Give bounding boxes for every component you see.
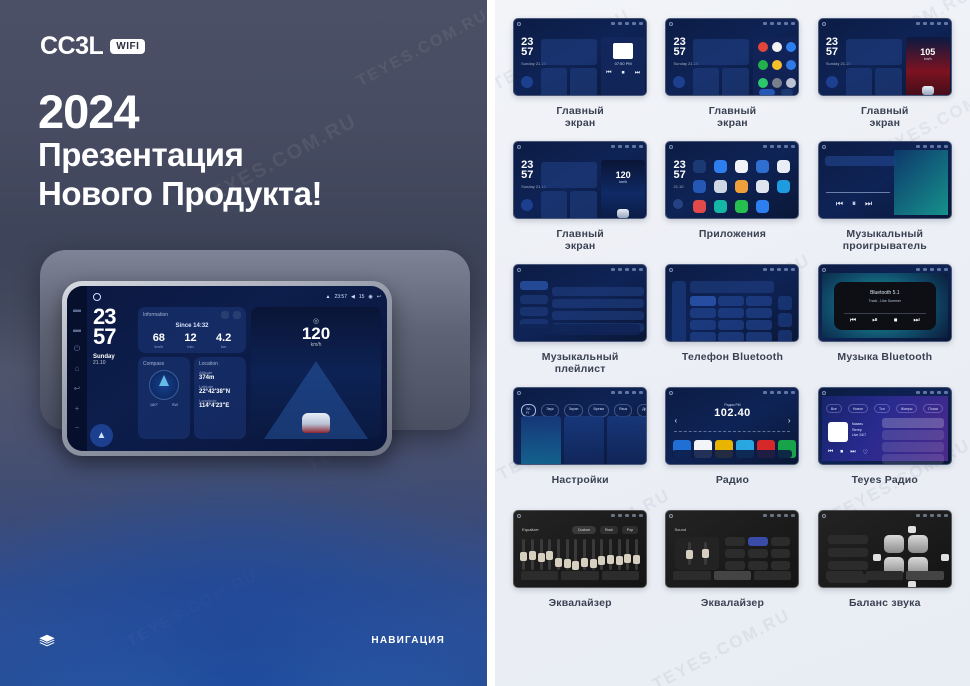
screen-thumbnail[interactable]: 2357Sunday 21.10 120 km/h [513, 141, 647, 219]
thumb-information-card [541, 39, 597, 65]
thumb-content: Sound [669, 519, 795, 584]
eq-preset-tile[interactable] [771, 561, 791, 570]
thumb-drive-view[interactable]: 105 km/h [906, 37, 950, 96]
bt-progress[interactable] [844, 313, 926, 314]
eq-band-slider[interactable] [548, 539, 551, 570]
compass-needle-icon [159, 375, 169, 386]
head-unit-side-rail[interactable]: ▬ ▬ ⏻ ⌂ ↩ + − [67, 286, 87, 451]
station-row[interactable] [882, 430, 944, 440]
track-row[interactable] [552, 299, 644, 308]
eq-tab [561, 571, 598, 580]
thumb-location-card [570, 68, 597, 96]
screen-thumbnail[interactable]: ВсеНовоеТопЖанрыПоиск КазаньПитерLive 24… [818, 387, 952, 465]
app-icon[interactable] [777, 160, 790, 173]
screen-thumbnail[interactable]: Equalizer Custom Rock Pop [513, 510, 647, 588]
back-icon [791, 145, 795, 148]
eq-band-slider[interactable] [626, 539, 629, 570]
wifi-icon [916, 391, 920, 394]
thumb-content: 2357Sunday 21.10 07:50 PM ⏮⏹⏭ [517, 27, 643, 92]
eq-band-slider[interactable] [540, 539, 543, 570]
metric-speed-unit: km/h [153, 344, 165, 349]
gallery-cell: 2357Sunday 21.10 Главныйэкран [659, 18, 805, 141]
status-icons [763, 268, 795, 271]
phone-sidebar[interactable] [672, 281, 686, 342]
eq-preset-tile[interactable] [725, 549, 745, 558]
eq-band-slider[interactable] [557, 539, 560, 570]
car-3d-model [302, 413, 330, 433]
eq-band-slider[interactable] [531, 539, 534, 570]
rail-volume-up-icon[interactable]: + [73, 404, 82, 413]
rail-back-icon[interactable]: ↩ [73, 384, 82, 393]
back-icon [639, 145, 643, 148]
information-card[interactable]: Information Since 14:32 68 [138, 307, 246, 353]
headline-line-2: Нового Продукта! [38, 175, 322, 214]
thumb-status-bar [822, 267, 948, 272]
eq-presets[interactable]: Custom Rock Pop [572, 526, 638, 534]
speaker-icon [908, 535, 928, 553]
clock-minutes: 57 [93, 327, 133, 347]
eq-band-slider[interactable] [566, 539, 569, 570]
teyes-tab[interactable]: Поиск [923, 404, 943, 413]
eq-band-slider[interactable] [618, 539, 621, 570]
eq-preset-tile[interactable] [725, 561, 745, 570]
media-controls[interactable]: ⏮⏹⏭ [601, 70, 645, 77]
screen-thumbnail[interactable]: 2357Sunday 21.10 07:50 PM ⏮⏹⏭ [513, 18, 647, 96]
eq-tabs[interactable] [521, 571, 639, 580]
clock-icon [923, 22, 927, 25]
screen-thumbnail[interactable]: 235721.10 [665, 141, 799, 219]
eq-fader[interactable] [704, 542, 707, 565]
app-icon[interactable] [714, 200, 727, 213]
teyes-tab[interactable]: Топ [874, 404, 890, 413]
eq-tabs[interactable] [826, 571, 944, 580]
thumb-nav-button[interactable] [521, 76, 533, 88]
settings-tile[interactable] [607, 416, 647, 465]
home-icon[interactable] [822, 22, 826, 26]
thumb-content [669, 273, 795, 338]
eq-band-slider[interactable] [609, 539, 612, 570]
app-icon[interactable] [758, 78, 768, 88]
back-icon [639, 514, 643, 517]
screen-thumbnail[interactable] [665, 264, 799, 342]
status-icons [916, 268, 948, 271]
screen-thumbnail[interactable]: Bluetooth 5.1 Track - Like Summer ⏮⏯⏹⏭ [818, 264, 952, 342]
eq-band-slider[interactable] [592, 539, 595, 570]
stop-icon: ⏹ [840, 449, 843, 456]
thumb-nav-button[interactable] [673, 76, 685, 88]
screen-thumbnail[interactable]: Радио FM 102.40 ‹ › [665, 387, 799, 465]
dial-key[interactable] [690, 332, 716, 342]
volume-icon [625, 514, 629, 517]
app-icon[interactable] [777, 180, 790, 193]
thumb-content [517, 273, 643, 338]
dial-key[interactable] [746, 332, 772, 342]
playlist-tab[interactable] [520, 281, 548, 290]
teyes-tab[interactable]: Новое [848, 404, 868, 413]
metric-distance-unit: km [216, 344, 231, 349]
location-card[interactable]: Location Altitude 374m Latitude 22°42'38… [194, 357, 246, 439]
home-icon[interactable] [669, 145, 673, 149]
track-row[interactable] [552, 287, 644, 296]
navigation-button[interactable]: ▲ [90, 424, 113, 447]
wifi-icon [916, 145, 920, 148]
eq-preset-button: Pop [622, 526, 638, 534]
home-indicator-icon[interactable] [93, 293, 101, 301]
home-icon[interactable] [517, 268, 521, 272]
app-icon[interactable] [693, 180, 706, 193]
settings-icon [937, 268, 941, 271]
screen-caption: Музыкальныйплейлист [542, 351, 619, 376]
eq-band-slider[interactable] [574, 539, 577, 570]
wifi-badge: WIFI [110, 39, 145, 54]
screen-caption: Музыка Bluetooth [837, 351, 932, 376]
app-icon[interactable] [772, 60, 782, 70]
compass-direction: SW [172, 402, 178, 407]
screen-caption: Музыкальныйпроигрыватель [843, 228, 927, 253]
balance-up-button[interactable] [908, 526, 916, 533]
wifi-icon [763, 145, 767, 148]
eq-band-sliders[interactable] [522, 539, 638, 570]
volume-icon: ◀ [351, 294, 355, 300]
rail-menu-icon[interactable]: ▬ [73, 325, 82, 334]
tuning-scale[interactable] [674, 431, 790, 436]
settings-tile[interactable] [564, 416, 604, 465]
teyes-tab[interactable]: Все [826, 404, 842, 413]
eq-preset-tile[interactable] [771, 537, 791, 546]
thumb-nav-button[interactable] [826, 76, 838, 88]
eq-tab-active [714, 571, 751, 580]
eq-band-slider[interactable] [522, 539, 525, 570]
screen-thumbnail[interactable]: Wi-FiЗвукЭкранВремяЯзыкДругое [513, 387, 647, 465]
station-row[interactable] [882, 418, 944, 428]
next-icon: ⏭ [635, 70, 640, 77]
rail-home-icon[interactable]: ⌂ [73, 364, 82, 373]
app-icon[interactable] [714, 160, 727, 173]
head-unit-body: ▲ 23:57 ◀ 15 ◉ ↩ 23 57 Sunday [87, 286, 387, 451]
clock-widget: 23 57 Sunday 21.10 ▲ [93, 307, 133, 439]
information-metrics: 68 km/h 12 min 4.2 km [143, 332, 241, 349]
head-unit-bezel: ▬ ▬ ⏻ ⌂ ↩ + − ▲ 23:57 ◀ 15 [62, 281, 392, 456]
eq-preset-tile[interactable] [748, 537, 768, 546]
screen-caption: Эквалайзер [549, 597, 612, 622]
hero-headline: 2024 Презентация Нового Продукта! [38, 88, 322, 214]
thumb-information-card [541, 162, 597, 188]
back-icon [791, 268, 795, 271]
dock-button[interactable] [759, 89, 775, 96]
home-icon[interactable] [669, 514, 673, 518]
screen-thumbnail[interactable]: ⏮⏸⏭ [818, 141, 952, 219]
now-playing-bar[interactable] [520, 324, 640, 335]
thumb-status-bar [669, 144, 795, 149]
balance-right-button[interactable] [941, 554, 949, 561]
thumb-compass-card [541, 68, 567, 96]
thumb-status-bar [517, 390, 643, 395]
back-icon [791, 22, 795, 25]
status-icons [916, 22, 948, 25]
call-action[interactable] [778, 296, 792, 310]
wifi-icon [611, 391, 615, 394]
track-title [825, 156, 897, 166]
wifi-icon [763, 514, 767, 517]
information-card-actions[interactable] [221, 311, 241, 319]
thumb-content: ⏮⏸⏭ [822, 150, 948, 215]
eq-preset-grid[interactable] [725, 537, 790, 570]
eq-preset-tile[interactable] [725, 537, 745, 546]
screen-caption: Настройки [552, 474, 609, 499]
compass-card[interactable]: Compass 180° SW [138, 357, 190, 439]
station-row[interactable] [882, 454, 944, 464]
teyes-tabs[interactable]: ВсеНовоеТопЖанрыПоиск [826, 404, 943, 413]
dock-button-2[interactable] [781, 89, 793, 96]
app-icon[interactable] [693, 160, 706, 173]
expand-icon[interactable] [233, 311, 241, 319]
track-row[interactable] [552, 311, 644, 320]
thumb-status-bar [822, 513, 948, 518]
thumb-drive-view[interactable]: 120 km/h [601, 160, 645, 219]
settings-icon [937, 391, 941, 394]
clock-icon [618, 268, 622, 271]
back-icon [944, 514, 948, 517]
thumb-app-shortcuts[interactable] [753, 37, 797, 96]
thumb-location-card [875, 68, 902, 96]
home-icon[interactable] [517, 22, 521, 26]
volume-level: 15 [359, 294, 365, 300]
home-icon[interactable] [822, 268, 826, 272]
eq-preset-button: Custom [572, 526, 596, 534]
head-unit-screen[interactable]: ▬ ▬ ⏻ ⌂ ↩ + − ▲ 23:57 ◀ 15 [67, 286, 387, 451]
thumb-status-bar [669, 267, 795, 272]
settings-icon[interactable]: ◉ [368, 294, 372, 300]
teyes-controls[interactable]: ⏮⏹⏭♡ [828, 449, 868, 456]
clock-icon [618, 145, 622, 148]
screen-caption: Баланс звука [849, 597, 921, 622]
prev-icon: ⏮ [606, 70, 611, 77]
app-icon[interactable] [758, 42, 768, 52]
settings-icon [632, 391, 636, 394]
home-icon[interactable] [822, 391, 826, 395]
settings-tile[interactable] [521, 416, 561, 465]
panel-divider [487, 0, 495, 686]
speed-unit: km/h [251, 342, 381, 348]
app-icon[interactable] [772, 42, 782, 52]
thumb-status-bar [517, 21, 643, 26]
thumb-content: 2357Sunday 21.10 105 km/h [822, 27, 948, 92]
category-row[interactable] [520, 307, 548, 316]
balance-preset[interactable] [828, 561, 868, 570]
thumb-location-card [570, 191, 597, 219]
home-icon[interactable] [669, 268, 673, 272]
hero-panel: TEYES.COM.RU TEYES.COM.RU TEYES.COM.RU T… [0, 0, 487, 686]
volume-icon [777, 391, 781, 394]
volume-icon [777, 268, 781, 271]
balance-down-button[interactable] [908, 581, 916, 588]
app-icon[interactable] [756, 180, 769, 193]
metric-distance-value: 4.2 [216, 332, 231, 344]
dial-key[interactable] [746, 320, 772, 330]
call-action[interactable] [778, 330, 792, 342]
screen-caption: Главныйэкран [556, 228, 604, 253]
rail-volume-down-icon[interactable]: − [73, 423, 82, 432]
app-icon[interactable] [786, 78, 796, 88]
metric-speed-value: 68 [153, 332, 165, 344]
album-art [828, 422, 848, 442]
stop-icon: ⏹ [894, 317, 898, 325]
watermark: TEYES.COM.RU [354, 7, 487, 91]
app-icon[interactable] [714, 180, 727, 193]
status-clock: 23:57 [334, 294, 347, 300]
status-icons [763, 145, 795, 148]
dial-key[interactable] [718, 332, 744, 342]
product-logo: CC3L WIFI [40, 32, 145, 61]
eq-tab [602, 571, 639, 580]
screen-thumbnail[interactable]: 2357Sunday 21.10 [665, 18, 799, 96]
screen-thumbnail[interactable]: Sound [665, 510, 799, 588]
gallery-cell: 2357Sunday 21.10 07:50 PM ⏮⏹⏭ Главныйэкр… [507, 18, 653, 141]
app-icon[interactable] [786, 60, 796, 70]
prev-icon: ⏮ [836, 199, 843, 209]
station-row[interactable] [882, 442, 944, 452]
settings-icon [632, 268, 636, 271]
dial-key[interactable] [690, 320, 716, 330]
status-bar-right: ▲ 23:57 ◀ 15 ◉ ↩ [326, 294, 381, 300]
dial-key[interactable] [718, 320, 744, 330]
home-icon[interactable] [517, 514, 521, 518]
eq-dual-faders[interactable] [675, 537, 719, 570]
thumb-media-widget[interactable]: 07:50 PM ⏮⏹⏭ [601, 37, 645, 96]
album-art [613, 43, 633, 59]
screen-caption: Teyes Радио [852, 474, 918, 499]
status-icons [916, 391, 948, 394]
thumb-speed-unit: km/h [906, 57, 950, 61]
rail-mic-icon[interactable]: ▬ [73, 305, 82, 314]
location-title: Location [199, 361, 241, 367]
player-controls[interactable]: ⏮⏸⏭ [836, 199, 872, 209]
home-icon[interactable] [517, 391, 521, 395]
prev-icon: ⏮ [850, 317, 856, 325]
thumb-content: 2357Sunday 21.10 120 km/h [517, 150, 643, 215]
dial-key[interactable] [746, 308, 772, 318]
dial-key[interactable] [690, 308, 716, 318]
rail-power-icon[interactable]: ⏻ [73, 344, 82, 353]
information-card-header: Information [143, 311, 241, 319]
screen-caption: Эквалайзер [701, 597, 764, 622]
status-icons [916, 145, 948, 148]
eq-preset-tile[interactable] [771, 549, 791, 558]
speed-readout: ◎ 120 km/h [251, 317, 381, 348]
app-icon[interactable] [735, 180, 748, 193]
app-icon[interactable] [756, 160, 769, 173]
dial-key[interactable] [718, 308, 744, 318]
screen-thumbnail[interactable]: 2357Sunday 21.10 105 km/h [818, 18, 952, 96]
screen-caption: Телефон Bluetooth [682, 351, 783, 376]
app-icon[interactable] [758, 60, 768, 70]
dial-display[interactable] [690, 281, 774, 293]
bt-version-label: Bluetooth 5.1 [834, 290, 936, 296]
eq-band-slider[interactable] [583, 539, 586, 570]
longitude-value: 114°4'23"E [199, 403, 241, 409]
back-icon [639, 22, 643, 25]
teyes-tab[interactable]: Жанры [896, 404, 918, 413]
home-icon[interactable] [669, 22, 673, 26]
thumb-status-bar [517, 513, 643, 518]
app-icon[interactable] [772, 78, 782, 88]
thumb-status-bar [517, 267, 643, 272]
eq-preset-tile[interactable] [748, 549, 768, 558]
clock-icon [618, 514, 622, 517]
app-icon[interactable] [693, 200, 706, 213]
eq-tabs[interactable] [673, 571, 791, 580]
radio-toolbar[interactable] [672, 450, 792, 458]
layers-icon[interactable] [38, 634, 56, 648]
balance-preset[interactable] [828, 535, 868, 544]
thumb-nav-button[interactable] [521, 199, 533, 211]
balance-left-button[interactable] [873, 554, 881, 561]
home-icon[interactable] [517, 145, 521, 149]
info-column: Information Since 14:32 68 [138, 307, 246, 439]
app-icon[interactable] [786, 42, 796, 52]
home-icon[interactable] [822, 145, 826, 149]
back-icon [791, 391, 795, 394]
category-row[interactable] [520, 295, 548, 304]
app-icon[interactable] [735, 200, 748, 213]
call-action[interactable] [778, 313, 792, 327]
eq-band-slider[interactable] [635, 539, 638, 570]
gallery-cell: ⏮⏸⏭Музыкальныйпроигрыватель [812, 141, 958, 264]
wifi-icon [611, 514, 615, 517]
bt-controls[interactable]: ⏮⏯⏹⏭ [834, 317, 936, 325]
thumb-status-bar [517, 144, 643, 149]
dial-key[interactable] [746, 296, 772, 306]
screen-caption: Главныйэкран [861, 105, 909, 130]
speaker-icon [884, 535, 904, 553]
speed-limit-icon: ◎ [251, 317, 381, 325]
metric-time-unit: min [184, 344, 196, 349]
screen-caption: Радио [716, 474, 749, 499]
drive-view-card[interactable]: ◎ 120 km/h [251, 307, 381, 439]
home-icon[interactable] [822, 514, 826, 518]
next-station-icon[interactable]: › [788, 416, 791, 425]
app-icon[interactable] [735, 160, 748, 173]
compass-heading: 180° [150, 402, 158, 407]
back-button[interactable] [673, 199, 683, 209]
thumb-status-bar [822, 21, 948, 26]
app-icon[interactable] [756, 200, 769, 213]
progress-bar[interactable] [826, 192, 890, 194]
balance-preset[interactable] [828, 548, 868, 557]
pause-icon: ⏸ [852, 199, 856, 209]
back-icon [944, 391, 948, 394]
prev-station-icon[interactable]: ‹ [674, 416, 677, 425]
eq-fader[interactable] [688, 542, 691, 565]
gallery-cell: ВсеНовоеТопЖанрыПоиск КазаньПитерLive 24… [812, 387, 958, 510]
status-bar: ▲ 23:57 ◀ 15 ◉ ↩ [93, 291, 381, 303]
thumb-compass-card [693, 68, 719, 96]
eq-band-slider[interactable] [600, 539, 603, 570]
volume-icon [930, 145, 934, 148]
back-icon[interactable]: ↩ [377, 294, 381, 300]
longitude-label: Longitude [199, 398, 241, 403]
screen-thumbnail[interactable] [818, 510, 952, 588]
eq-preset-tile[interactable] [748, 561, 768, 570]
clock-icon [923, 514, 927, 517]
gallery-cell: Sound Эквалайзер [659, 510, 805, 633]
refresh-icon[interactable] [221, 311, 229, 319]
dial-key[interactable] [690, 296, 716, 306]
settings-icon [784, 514, 788, 517]
screen-thumbnail[interactable] [513, 264, 647, 342]
dial-key[interactable] [718, 296, 744, 306]
home-icon[interactable] [669, 391, 673, 395]
